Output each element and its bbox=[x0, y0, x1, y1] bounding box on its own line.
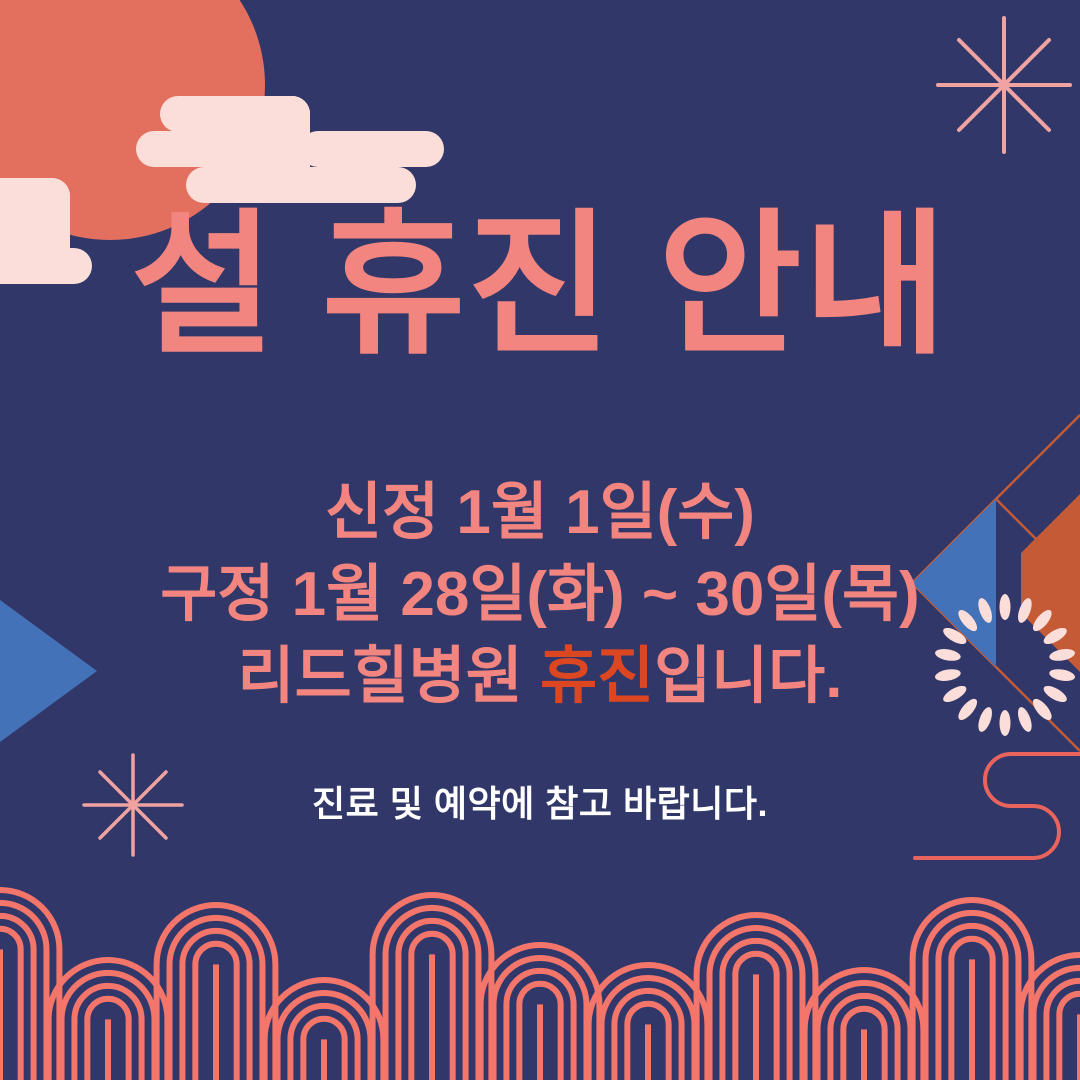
schedule-line-1: 신정 1월 1일(수) bbox=[0, 472, 1080, 554]
poster-canvas: 설 휴진 안내 신정 1월 1일(수) 구정 1월 28일(화) ~ 30일(목… bbox=[0, 0, 1080, 1080]
footnote-text: 진료 및 예약에 참고 바랍니다. bbox=[0, 775, 1080, 827]
poster-text-stack: 설 휴진 안내 신정 1월 1일(수) 구정 1월 28일(화) ~ 30일(목… bbox=[0, 0, 1080, 1080]
schedule-block: 신정 1월 1일(수) 구정 1월 28일(화) ~ 30일(목) 리드힐병원 … bbox=[0, 472, 1080, 717]
page-title: 설 휴진 안내 bbox=[0, 207, 1080, 366]
schedule-line-2: 구정 1월 28일(화) ~ 30일(목) bbox=[0, 554, 1080, 636]
schedule-line-3-post: 입니다. bbox=[654, 642, 842, 711]
schedule-line-3-pre: 리드힐병원 bbox=[238, 642, 540, 711]
schedule-line-3-highlight: 휴진 bbox=[540, 642, 654, 711]
schedule-line-3: 리드힐병원 휴진입니다. bbox=[0, 636, 1080, 718]
